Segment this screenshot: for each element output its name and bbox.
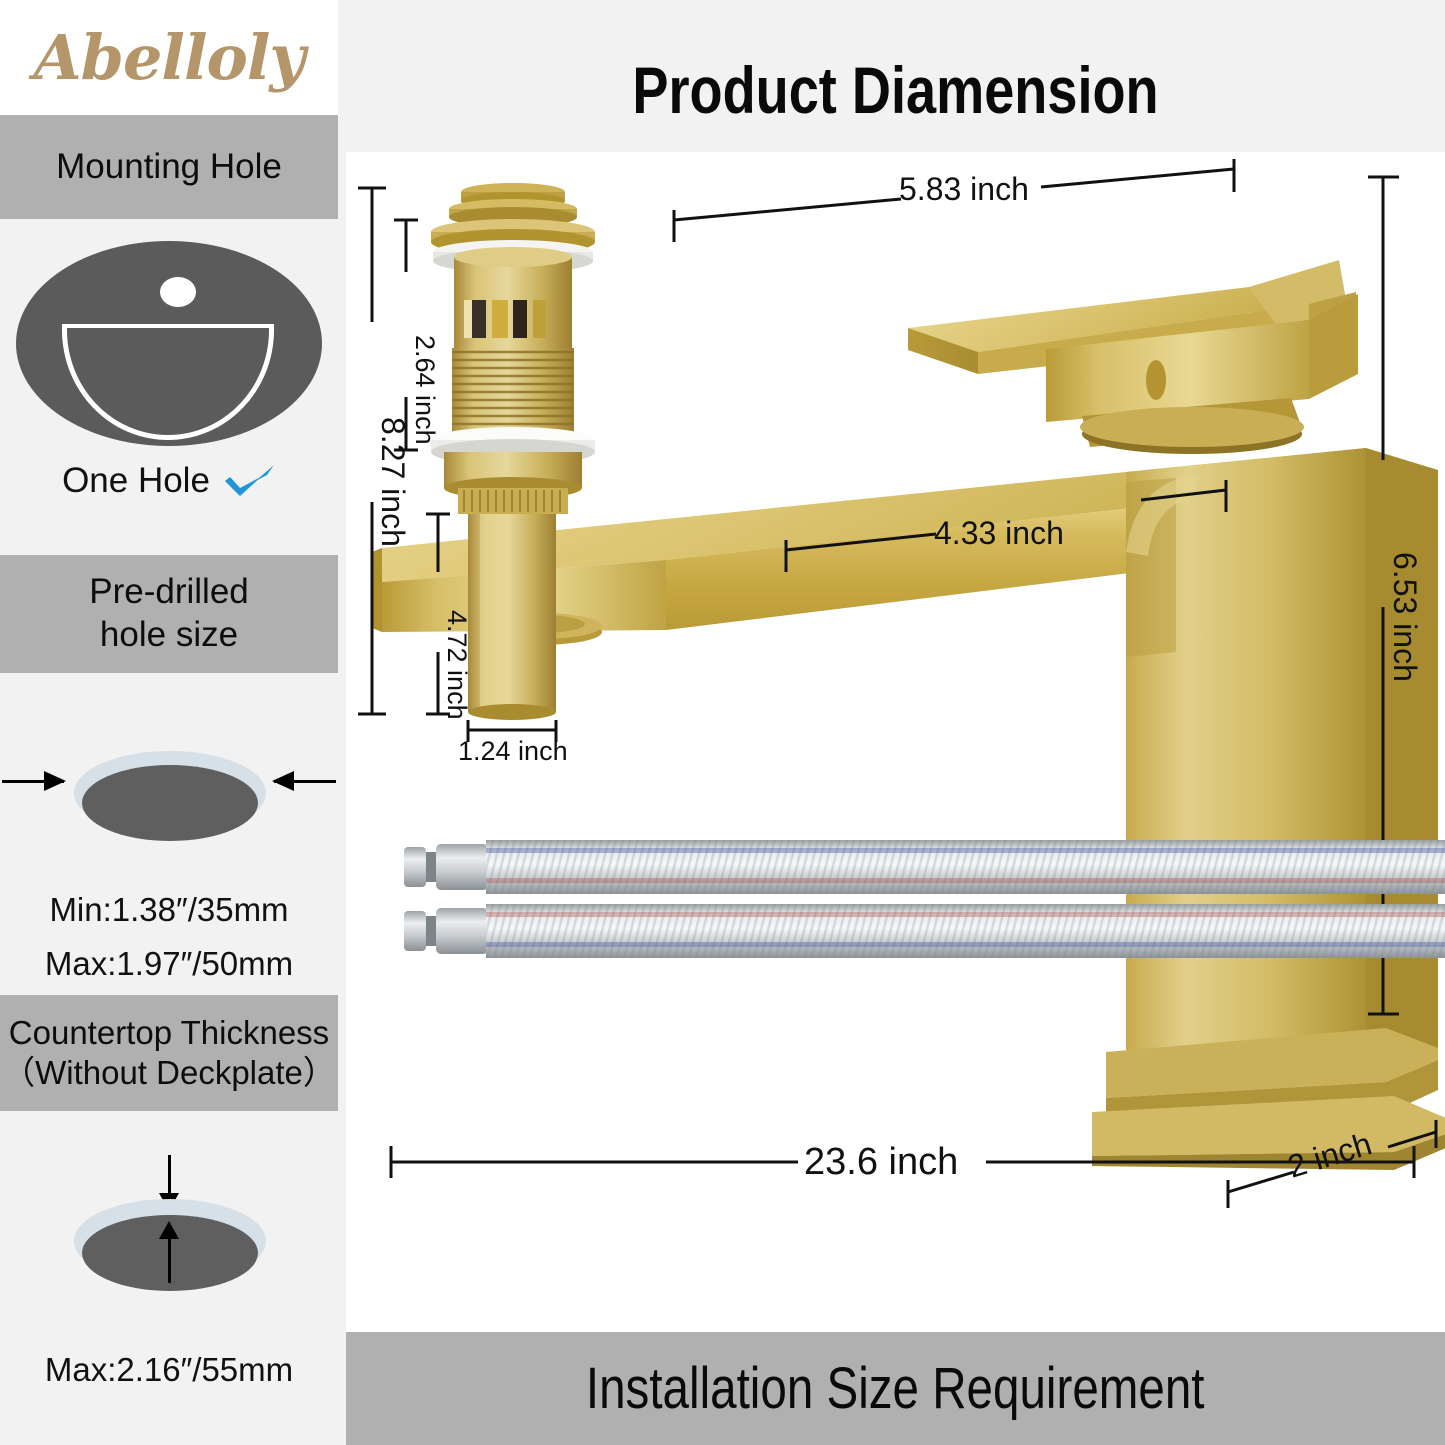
arrow-up-icon <box>168 1237 171 1283</box>
pre-drilled-max-spec: Max:1.97″/50mm <box>0 945 338 983</box>
sink-faucet-hole <box>160 277 196 307</box>
dim-drain-head: 2.64 inch <box>410 335 440 445</box>
mounting-hole-label: Mounting Hole <box>56 146 282 189</box>
footer-banner: Installation Size Requirement <box>346 1332 1445 1445</box>
arrow-right-icon <box>274 780 336 783</box>
pre-drilled-label-line2: hole size <box>100 615 238 654</box>
one-hole-label: One Hole <box>62 461 210 501</box>
one-hole-caption-row: One Hole <box>0 461 338 501</box>
section-heading-countertop-thickness: Countertop Thickness （Without Deckplate） <box>0 995 338 1111</box>
product-diagram: 5.83 inch 4.33 inch 6.53 inch 2 inch <box>346 152 1445 1332</box>
footer-label: Installation Size Requirement <box>586 1355 1205 1422</box>
dim-faucet-top-width: 5.83 inch <box>899 171 1029 207</box>
section-body-countertop-thickness: Max:2.16″/55mm <box>0 1111 338 1445</box>
sink-one-hole-icon <box>16 241 322 446</box>
pre-drilled-min-spec: Min:1.38″/35mm <box>0 891 338 929</box>
countertop-thickness-disc-icon <box>0 1151 338 1311</box>
dim-drain-tail: 4.72 inch <box>442 610 472 720</box>
dim-hose-length: 23.6 inch <box>804 1141 958 1183</box>
hole-disc-shape <box>74 751 266 843</box>
main-panel: Product Diamension <box>346 0 1445 1445</box>
drilled-hole-disc-icon <box>0 733 338 863</box>
section-heading-pre-drilled: Pre-drilled hole size <box>0 555 338 673</box>
supply-hose-1 <box>404 834 1445 902</box>
sidebar: Abelloly Mounting Hole One Hole <box>0 0 338 1445</box>
pre-drilled-label-line1: Pre-drilled <box>89 572 249 611</box>
dim-drain-diameter: 1.24 inch <box>458 736 568 766</box>
supply-hose-2 <box>404 898 1445 966</box>
section-body-mounting-hole: One Hole <box>0 219 338 555</box>
section-body-pre-drilled: Min:1.38″/35mm Max:1.97″/50mm <box>0 673 338 995</box>
arrow-down-icon <box>168 1155 171 1195</box>
dim-faucet-spout-reach: 4.33 inch <box>934 515 1064 551</box>
brand-logo-text: Abelloly <box>34 27 305 89</box>
page-title: Product Diamension <box>445 52 1346 128</box>
section-heading-mounting-hole: Mounting Hole <box>0 115 338 219</box>
product-dimension-infographic: Abelloly Mounting Hole One Hole <box>0 0 1445 1445</box>
diagram-stage: 5.83 inch 4.33 inch 6.53 inch 2 inch <box>346 152 1445 1332</box>
countertop-label-line1: Countertop Thickness <box>9 1014 329 1051</box>
blue-checkmark-icon <box>224 464 276 498</box>
brand-logo: Abelloly <box>0 0 338 115</box>
countertop-max-spec: Max:2.16″/55mm <box>0 1351 338 1389</box>
countertop-label-line2: （Without Deckplate） <box>2 1054 336 1091</box>
arrow-left-icon <box>2 780 64 783</box>
dim-faucet-height: 6.53 inch <box>1387 552 1423 682</box>
dim-drain-total: 8.27 inch <box>375 417 411 547</box>
hole-disc-opening <box>82 765 258 841</box>
